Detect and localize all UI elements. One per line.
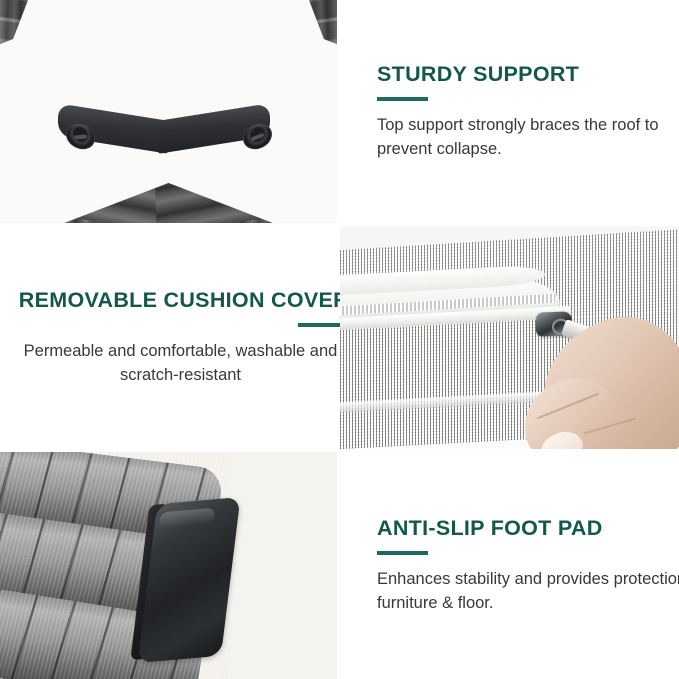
zipper-cushion-cover-photo-art [340,226,679,449]
feature-text-sturdy-support: STURDY SUPPORT Top support strongly brac… [340,0,679,223]
feature-heading-anti-slip-foot-pad: ANTI-SLIP FOOT PAD [377,516,603,541]
woven-corner-bracket-photo-art [0,0,337,223]
feature-text-anti-slip-foot-pad: ANTI-SLIP FOOT PAD Enhances stability an… [340,452,679,679]
feature-description-removable-cushion-cover: Permeable and comfortable, washable and … [12,340,349,387]
feature-description-anti-slip-foot-pad: Enhances stability and provides protecti… [377,568,679,615]
accent-bar-sturdy-support [377,97,428,101]
woven-corner-bracket-photo [0,0,337,223]
feature-text-removable-cushion-cover: REMOVABLE CUSHION COVER Permeable and co… [0,226,383,449]
anti-slip-foot-pad-photo [0,452,337,679]
anti-slip-foot-pad-photo-art [0,452,337,679]
product-feature-infographic: STURDY SUPPORT Top support strongly brac… [0,0,679,679]
feature-description-sturdy-support: Top support strongly braces the roof to … [377,114,679,161]
accent-bar-anti-slip-foot-pad [377,551,428,555]
feature-heading-removable-cushion-cover: REMOVABLE CUSHION COVER [19,288,349,313]
feature-heading-sturdy-support: STURDY SUPPORT [377,62,579,87]
zipper-cushion-cover-photo [340,226,679,449]
